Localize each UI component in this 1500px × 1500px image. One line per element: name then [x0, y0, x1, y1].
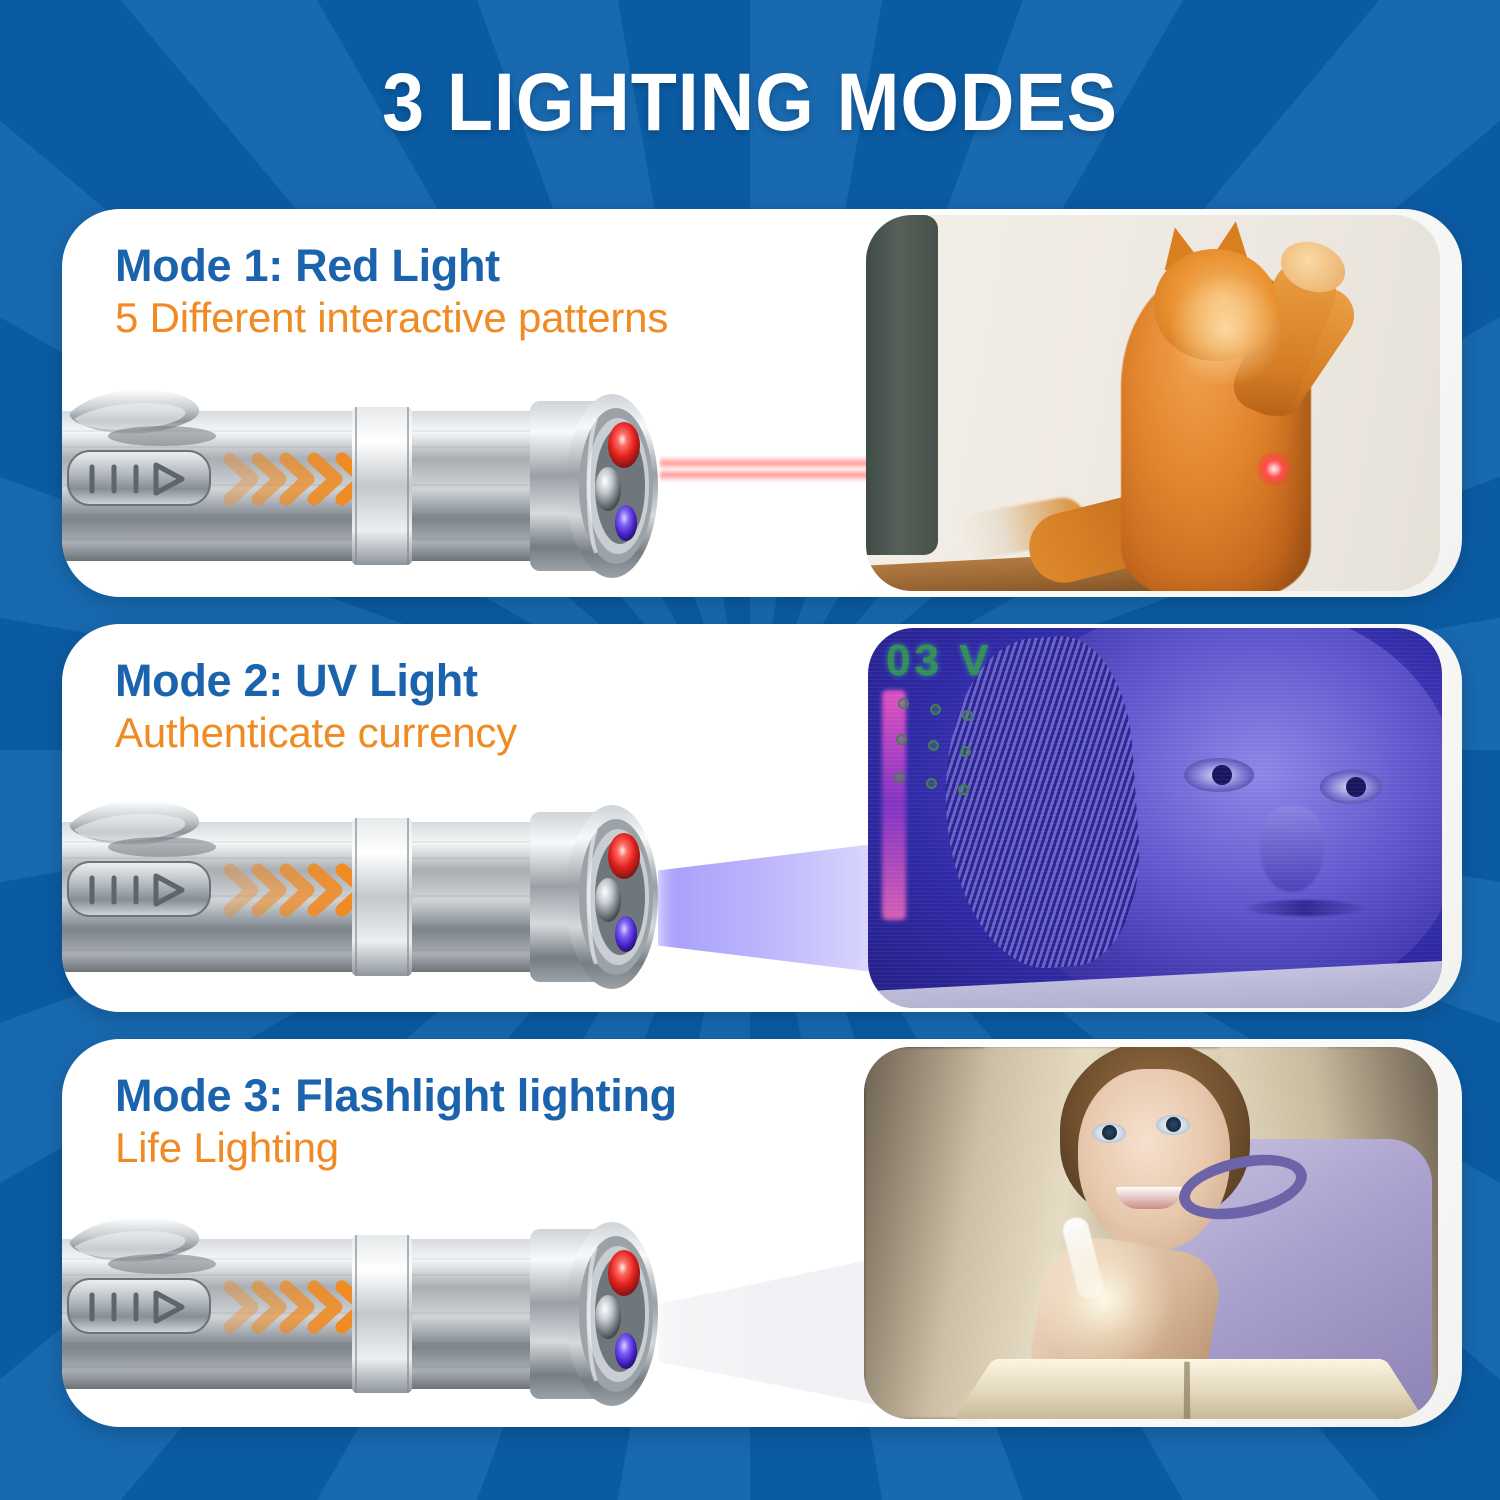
mode-card-red-light: Mode 1: Red Light 5 Different interactiv… — [62, 209, 1462, 597]
uv-banknote-scene: 03 V — [868, 628, 1442, 1008]
card-headings-3: Mode 3: Flashlight lighting Life Lightin… — [115, 1071, 677, 1173]
girl-reading-scene — [864, 1047, 1438, 1419]
girl-reading-with-flashlight-photo — [864, 1047, 1438, 1419]
girl-pupil-left — [1102, 1125, 1117, 1140]
cat-chasing-laser-photo — [866, 215, 1440, 591]
book-spine-shape — [1184, 1362, 1191, 1419]
mode-card-uv-light: Mode 2: UV Light Authenticate currency — [62, 624, 1462, 1012]
red-laser-dot-icon — [1257, 452, 1291, 486]
page-title: 3 LIGHTING MODES — [60, 62, 1440, 144]
card-clip-2: Mode 2: UV Light Authenticate currency — [62, 624, 1462, 1012]
held-flashlight-glow — [1034, 1229, 1174, 1369]
cat-scene — [866, 215, 1440, 591]
card-heading-2: Mode 2: UV Light — [115, 656, 517, 706]
card-clip-1: Mode 1: Red Light 5 Different interactiv… — [62, 209, 1462, 597]
card-headings-2: Mode 2: UV Light Authenticate currency — [115, 656, 517, 758]
uv-banknote-photo: 03 V — [868, 628, 1442, 1008]
card-subheading-2: Authenticate currency — [115, 708, 517, 758]
girl-face-shape — [1078, 1069, 1230, 1251]
mode-card-flashlight: Mode 3: Flashlight lighting Life Lightin… — [62, 1039, 1462, 1427]
card-headings-1: Mode 1: Red Light 5 Different interactiv… — [115, 241, 668, 343]
flashlight-icon — [62, 389, 720, 594]
flashlight-icon — [62, 800, 720, 1005]
card-heading-3: Mode 3: Flashlight lighting — [115, 1071, 677, 1121]
banknote-engraving-texture — [868, 628, 1442, 1008]
card-subheading-3: Life Lighting — [115, 1123, 677, 1173]
cat-light-glow — [1166, 275, 1286, 385]
card-subheading-1: 5 Different interactive patterns — [115, 293, 668, 343]
card-clip-3: Mode 3: Flashlight lighting Life Lightin… — [62, 1039, 1462, 1427]
flashlight-icon — [62, 1217, 720, 1422]
curtain-shape — [866, 215, 938, 555]
card-heading-1: Mode 1: Red Light — [115, 241, 668, 291]
girl-pupil-right — [1166, 1117, 1181, 1132]
